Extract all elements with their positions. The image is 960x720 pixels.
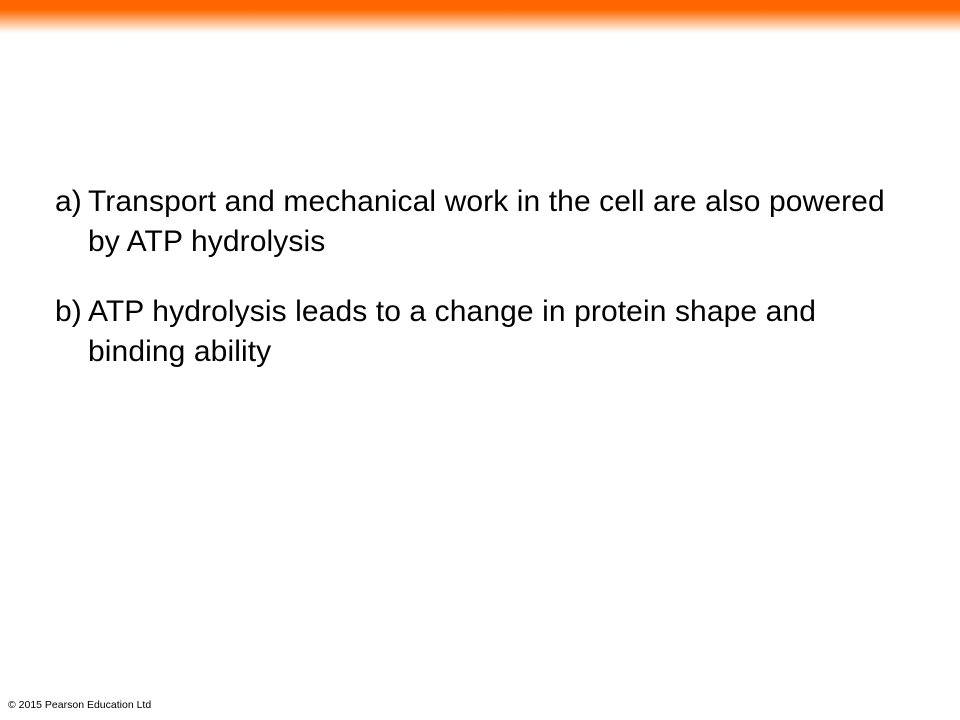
list-item: a) Transport and mechanical work in the …	[55, 182, 895, 262]
list-item-text: ATP hydrolysis leads to a change in prot…	[88, 292, 888, 372]
slide-body-list: a) Transport and mechanical work in the …	[55, 182, 895, 372]
list-item: b) ATP hydrolysis leads to a change in p…	[55, 292, 895, 372]
list-item-text: Transport and mechanical work in the cel…	[88, 182, 888, 262]
slide-canvas: a) Transport and mechanical work in the …	[0, 0, 960, 720]
list-item-marker: b)	[55, 292, 88, 332]
header-accent-band	[0, 0, 960, 34]
copyright-notice: © 2015 Pearson Education Ltd	[8, 698, 151, 712]
header-accent-gradient	[0, 9, 960, 34]
list-item-marker: a)	[55, 182, 88, 222]
header-accent-solid	[0, 0, 960, 9]
